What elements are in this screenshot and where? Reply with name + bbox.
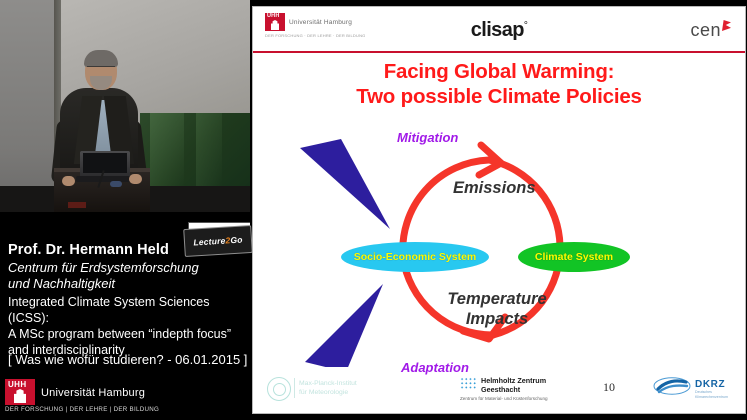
- mpi-minerva-icon: [267, 377, 291, 401]
- hzg-logo-subtitle: Zentrum für Material- und Küstenforschun…: [460, 396, 548, 401]
- speaker-hand-right: [129, 174, 142, 184]
- climate-policy-cycle-diagram: Mitigation Adaptation Emissions Temperat…: [253, 117, 745, 367]
- clisap-logo: clisap°: [253, 19, 745, 42]
- helmholtz-zentrum-geesthacht-logo: Helmholtz ZentrumGeesthacht Zentrum für …: [460, 375, 610, 407]
- mitigation-arrow-icon: [300, 139, 390, 229]
- dkrz-logo-name: DKRZ: [695, 379, 725, 390]
- lecture-course-title: Integrated Climate System Sciences (ICSS…: [8, 294, 248, 358]
- lecture-series-and-date: [ Was wie wofür studieren? - 06.01.2015 …: [8, 352, 247, 367]
- cen-logo: cen: [690, 20, 731, 41]
- socio-economic-system-node: Socio-Economic System: [341, 242, 489, 272]
- speaker-hair: [84, 50, 118, 67]
- mpi-logo-text: Max-Planck-Institut für Meteorologie: [299, 379, 357, 397]
- temperature-impacts-label: Temperature Impacts: [431, 289, 563, 329]
- speaker-glasses: [87, 66, 115, 72]
- cen-logo-text: cen: [690, 20, 721, 40]
- slide-title: Facing Global Warming: Two possible Clim…: [253, 59, 745, 109]
- dkrz-logo: DKRZ Deutsches Klimarechenzentrum: [653, 375, 743, 405]
- cen-flag-icon: [722, 20, 731, 31]
- laptop-screen: [83, 153, 127, 173]
- uhh-logo-motto: DER FORSCHUNG | DER LEHRE | DER BILDUNG: [5, 406, 159, 413]
- climate-system-node: Climate System: [518, 242, 630, 272]
- lecture2go-logo-text: Lecture2Go: [193, 235, 243, 248]
- clisap-logo-text: clisap: [471, 19, 524, 41]
- laptop-base: [76, 176, 136, 182]
- dkrz-logo-subtitle: Deutsches Klimarechenzentrum: [695, 390, 728, 399]
- mpi-logo-divider: [294, 378, 295, 398]
- uhh-building-icon: [14, 389, 26, 403]
- clisap-logo-degree: °: [524, 20, 527, 31]
- emissions-label: Emissions: [453, 179, 536, 198]
- speaker-video-frame[interactable]: [0, 0, 250, 212]
- lecture-player: Lecture2Go Prof. Dr. Hermann Held Centru…: [0, 0, 747, 420]
- cycle-diagram-svg: [253, 117, 745, 367]
- presentation-slide[interactable]: UHH Universität Hamburg DER FORSCHUNG · …: [252, 6, 746, 414]
- lecture2go-prefix: Lecture: [193, 236, 226, 248]
- lecture-info-panel: Lecture2Go Prof. Dr. Hermann Held Centru…: [0, 232, 250, 420]
- lecture2go-suffix: Go: [230, 235, 243, 246]
- chalkboard-sheen: [150, 113, 184, 187]
- helmholtz-dots-icon: [460, 377, 477, 390]
- uhh-logo-name: Universität Hamburg: [41, 387, 145, 399]
- mitigation-label: Mitigation: [397, 130, 458, 145]
- hzg-logo-text: Helmholtz ZentrumGeesthacht: [481, 376, 546, 394]
- hzg-line-2: Geesthacht: [481, 385, 520, 394]
- uhh-logo-mark: UHH: [5, 379, 35, 405]
- slide-header: UHH Universität Hamburg DER FORSCHUNG · …: [253, 7, 745, 53]
- speaker-affiliation: Centrum für Erdsystemforschung und Nachh…: [8, 260, 244, 292]
- uhh-logo-initials: UHH: [8, 380, 27, 389]
- slide-title-line-2: Two possible Climate Policies: [253, 84, 745, 109]
- lectern-marking: [68, 202, 86, 208]
- hzg-line-1: Helmholtz Zentrum: [481, 376, 546, 385]
- max-planck-institute-logo: Max-Planck-Institut für Meteorologie: [267, 375, 387, 405]
- lecture2go-logo[interactable]: Lecture2Go: [183, 225, 253, 257]
- speaker-name: Prof. Dr. Hermann Held: [8, 242, 169, 258]
- lecture-hall-wall-left: [0, 0, 58, 212]
- university-hamburg-logo: UHH Universität Hamburg DER FORSCHUNG | …: [5, 379, 205, 415]
- chalkboard-sheen-2: [196, 113, 222, 187]
- dkrz-swoosh-icon: [653, 377, 691, 395]
- adaptation-label: Adaptation: [401, 360, 469, 375]
- slide-title-line-1: Facing Global Warming:: [253, 59, 745, 84]
- adaptation-arrow-icon: [305, 284, 383, 367]
- computer-mouse: [110, 181, 122, 187]
- speaker-hand-left: [62, 176, 75, 186]
